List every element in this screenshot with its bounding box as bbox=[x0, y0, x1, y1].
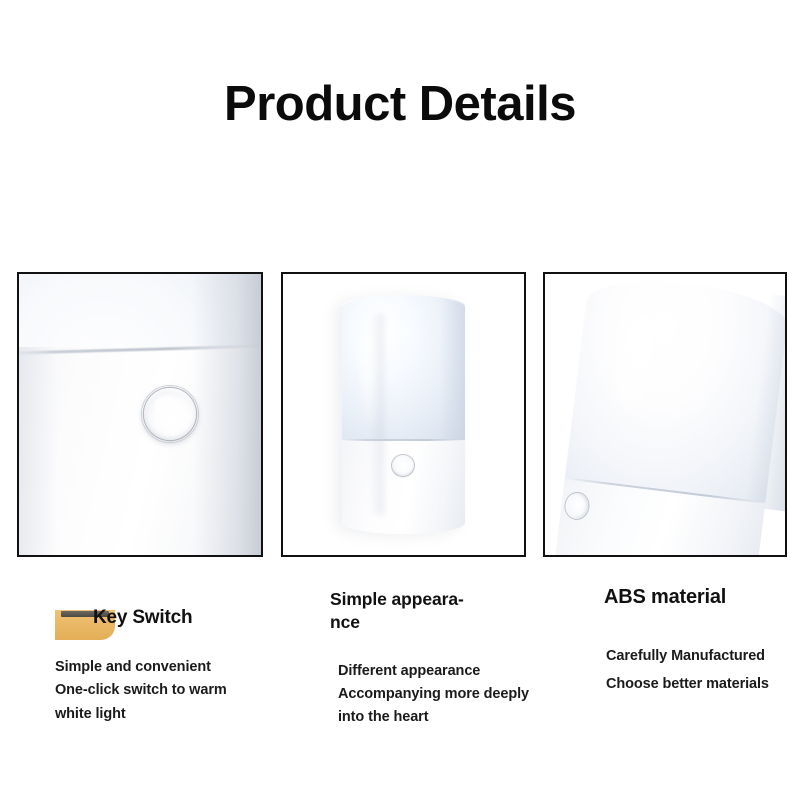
caption-line: Different appearance bbox=[338, 660, 545, 683]
caption-line: Accompanying more deeply into the heart bbox=[338, 683, 545, 730]
caption-body: Different appearance Accompanying more d… bbox=[338, 660, 545, 730]
product-image-panel-abs-material[interactable] bbox=[543, 272, 787, 557]
caption-line: Simple and convenient bbox=[55, 656, 295, 679]
caption-heading: ABS material bbox=[604, 585, 794, 610]
caption-body: Simple and convenient One-click switch t… bbox=[55, 656, 295, 726]
product-photo-key-switch-closeup bbox=[19, 274, 261, 555]
body-left-shading bbox=[19, 347, 58, 555]
product-image-panel-full-unit[interactable] bbox=[281, 272, 526, 557]
body-right-shading bbox=[193, 274, 261, 555]
dome-edge-shading bbox=[440, 295, 465, 443]
page-title: Product Details bbox=[0, 78, 800, 132]
caption-key-switch: Key Switch Simple and convenient One-cli… bbox=[55, 600, 295, 726]
caption-abs-material: ABS material Carefully Manufactured Choo… bbox=[604, 585, 794, 699]
night-light-unit bbox=[342, 295, 465, 534]
caption-simple-appearance: Simple appeara- nce Different appearance… bbox=[330, 588, 545, 730]
caption-line: Carefully Manufactured bbox=[606, 642, 794, 670]
caption-heading: Key Switch bbox=[93, 606, 192, 630]
device-body bbox=[342, 440, 465, 534]
caption-heading: Simple appeara- nce bbox=[330, 588, 545, 634]
body-left-shading bbox=[369, 314, 384, 515]
caption-line: Choose better materials bbox=[606, 670, 794, 698]
caption-line: One-click switch to warm white light bbox=[55, 679, 295, 726]
body-seam-line bbox=[342, 439, 465, 441]
product-photo-full-night-light bbox=[283, 274, 524, 555]
product-photo-angled-closeup bbox=[545, 274, 785, 555]
power-button-icon bbox=[144, 388, 196, 440]
caption-heading-row: Key Switch bbox=[55, 600, 295, 634]
caption-body: Carefully Manufactured Choose better mat… bbox=[606, 642, 794, 699]
night-light-unit bbox=[556, 274, 785, 555]
product-image-panel-key-switch[interactable] bbox=[17, 272, 263, 557]
